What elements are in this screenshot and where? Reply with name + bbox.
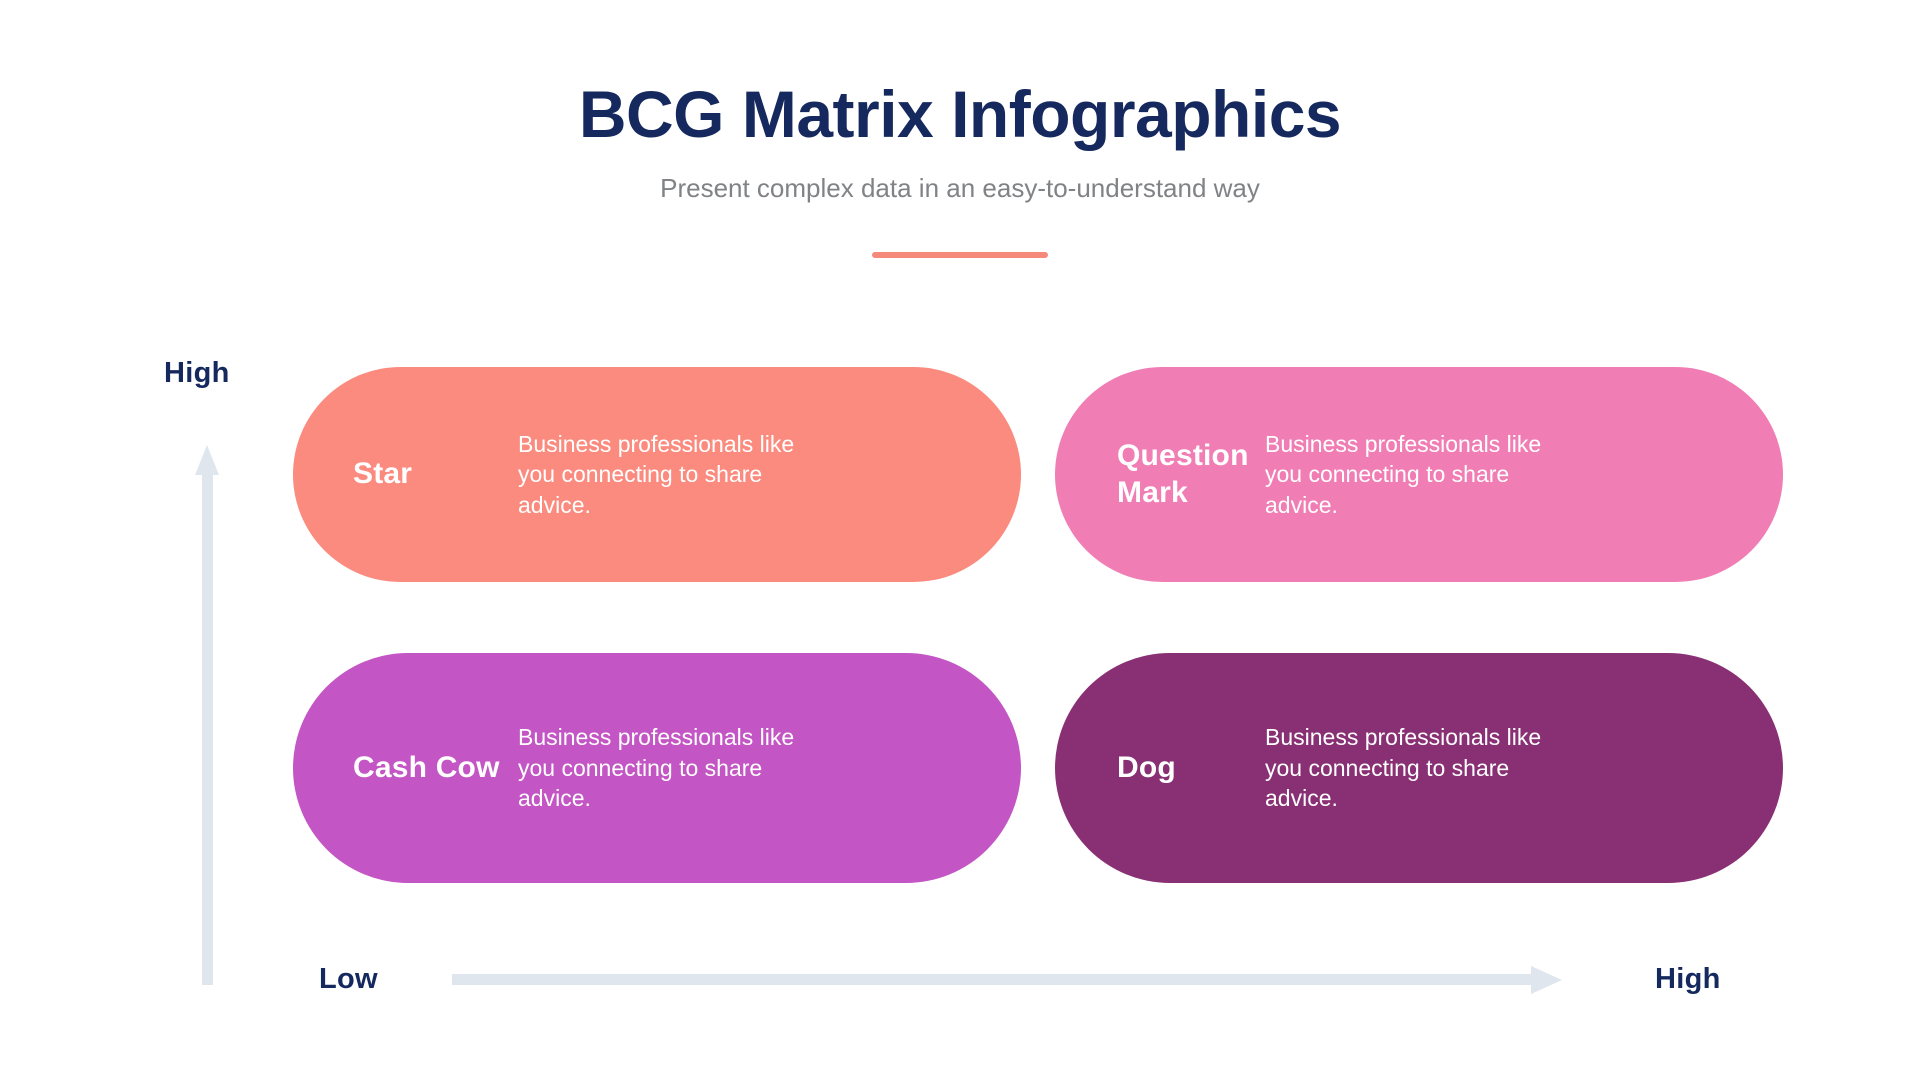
quadrant-label-question-mark: Question Mark	[1055, 438, 1265, 511]
arrow-up-icon	[195, 445, 219, 475]
title-divider	[872, 252, 1048, 258]
quadrant-description-cash-cow: Business professionals like you connecti…	[518, 722, 878, 813]
quadrant-card-question-mark[interactable]: Question Mark Business professionals lik…	[1055, 367, 1783, 582]
quadrant-label-cash-cow: Cash Cow	[293, 750, 518, 787]
quadrant-description-question-mark: Business professionals like you connecti…	[1265, 429, 1625, 520]
axis-label-horizontal-high: High	[1655, 963, 1721, 996]
axis-label-vertical-high: High	[164, 357, 230, 390]
quadrant-label-dog: Dog	[1055, 750, 1265, 787]
arrow-right-icon	[1531, 966, 1562, 994]
quadrant-description-star: Business professionals like you connecti…	[518, 429, 878, 520]
slide-canvas: BCG Matrix Infographics Present complex …	[0, 0, 1920, 1080]
page-subtitle: Present complex data in an easy-to-under…	[0, 172, 1920, 206]
quadrant-card-dog[interactable]: Dog Business professionals like you conn…	[1055, 653, 1783, 883]
page-title: BCG Matrix Infographics	[0, 78, 1920, 152]
axis-label-horizontal-low: Low	[319, 963, 378, 996]
quadrant-label-star: Star	[293, 456, 518, 493]
quadrant-card-star[interactable]: Star Business professionals like you con…	[293, 367, 1021, 582]
vertical-axis-line	[202, 473, 213, 985]
vertical-axis	[195, 445, 219, 985]
horizontal-axis	[452, 966, 1562, 994]
header: BCG Matrix Infographics Present complex …	[0, 78, 1920, 206]
quadrant-description-dog: Business professionals like you connecti…	[1265, 722, 1625, 813]
horizontal-axis-line	[452, 974, 1532, 985]
quadrant-card-cash-cow[interactable]: Cash Cow Business professionals like you…	[293, 653, 1021, 883]
